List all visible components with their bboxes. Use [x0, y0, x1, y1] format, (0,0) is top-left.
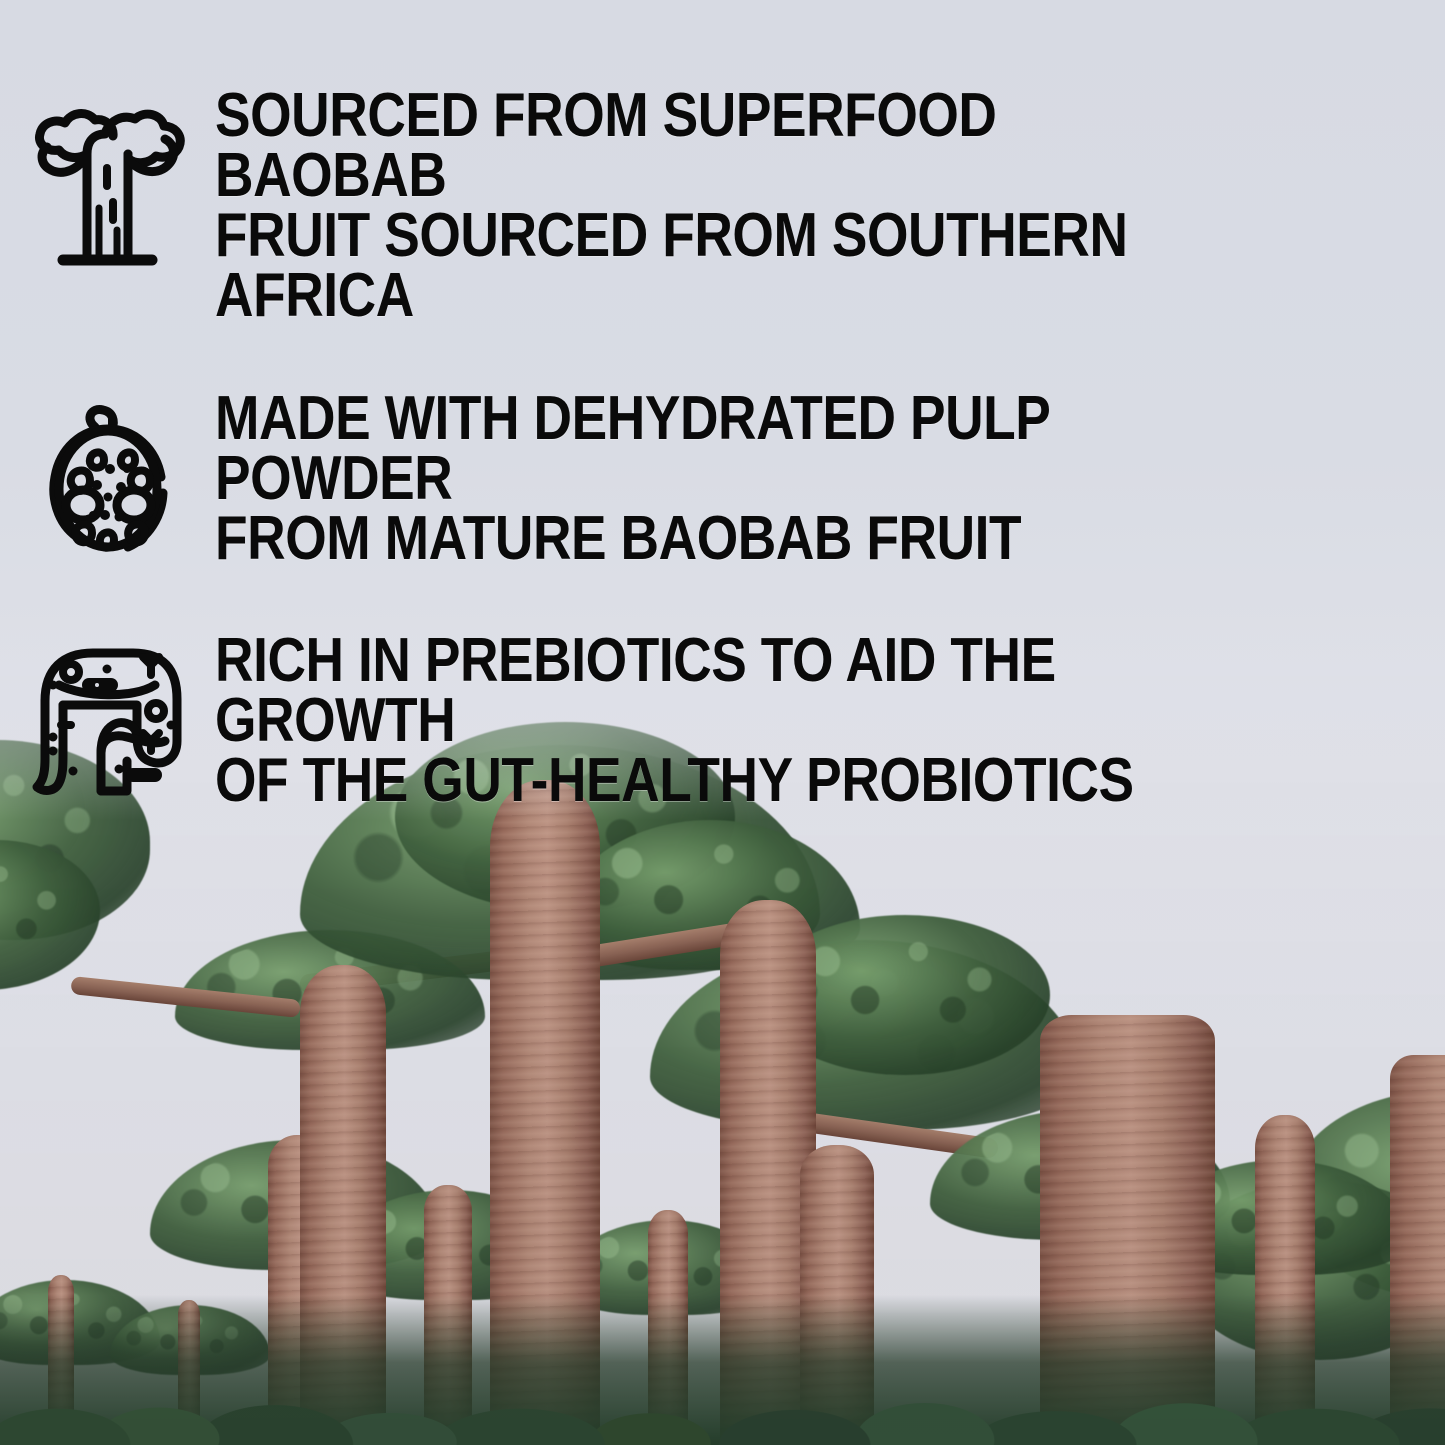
- feature-text-sourcing: SOURCED FROM SUPERFOOD BAOBAB FRUIT SOUR…: [215, 86, 1204, 327]
- baobab-tree-icon: [0, 86, 215, 275]
- intestine-gut-bacteria-icon: [0, 631, 215, 801]
- feature-list: SOURCED FROM SUPERFOOD BAOBAB FRUIT SOUR…: [0, 0, 1445, 873]
- feature-text-ingredient: MADE WITH DEHYDRATED PULP POWDER FROM MA…: [215, 389, 1204, 569]
- feature-row-ingredient: MADE WITH DEHYDRATED PULP POWDER FROM MA…: [0, 389, 1445, 569]
- feature-row-sourcing: SOURCED FROM SUPERFOOD BAOBAB FRUIT SOUR…: [0, 86, 1445, 327]
- feature-row-prebiotics: RICH IN PREBIOTICS TO AID THE GROWTH OF …: [0, 631, 1445, 811]
- feature-text-prebiotics: RICH IN PREBIOTICS TO AID THE GROWTH OF …: [215, 631, 1204, 811]
- baobab-fruit-cross-section-icon: [0, 389, 215, 565]
- product-benefits-infographic: SOURCED FROM SUPERFOOD BAOBAB FRUIT SOUR…: [0, 0, 1445, 1445]
- ground-scrub: [0, 1295, 1445, 1445]
